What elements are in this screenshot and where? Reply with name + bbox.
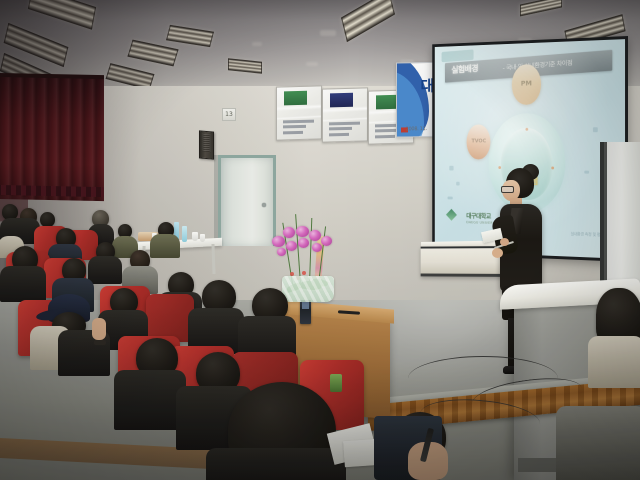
lecture-hall-photo: 대구 2008. 11. 13 실험배경 - 국내·외 실내환경기준 차이점 — [0, 0, 640, 480]
photo-color-tint — [0, 0, 640, 480]
